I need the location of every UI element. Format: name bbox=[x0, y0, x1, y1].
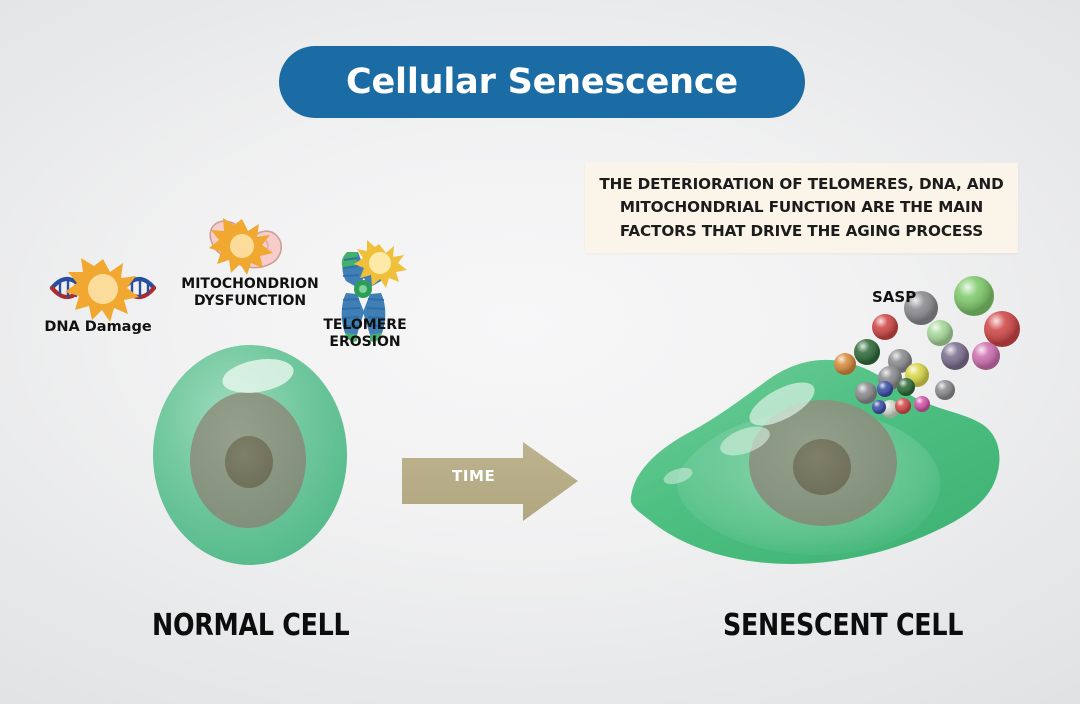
sasp-particle-highlight bbox=[878, 366, 902, 390]
sasp-particle-highlight bbox=[872, 314, 898, 340]
sasp-particle-highlight bbox=[888, 349, 912, 373]
sasp-particle-highlight bbox=[914, 396, 930, 412]
title-banner: Cellular Senescence bbox=[279, 46, 805, 118]
sasp-particle-highlight bbox=[877, 381, 893, 397]
sasp-particle bbox=[984, 311, 1020, 347]
sasp-particle bbox=[888, 349, 912, 373]
sasp-particle-highlight bbox=[895, 398, 911, 414]
sasp-particle bbox=[972, 342, 1000, 370]
callout-box: THE DETERIORATION OF TELOMERES, DNA, AND… bbox=[585, 163, 1018, 253]
factor-label-dna-damage: DNA Damage bbox=[18, 319, 178, 337]
sasp-particle bbox=[935, 380, 955, 400]
dna-helix-burst-icon bbox=[52, 258, 154, 322]
sasp-particle bbox=[872, 400, 886, 414]
normal-cell-illustration bbox=[153, 345, 347, 565]
sasp-particle bbox=[872, 314, 898, 340]
sasp-particle-highlight bbox=[854, 339, 880, 365]
sasp-particle-highlight bbox=[897, 378, 915, 396]
time-arrow-label: TIME bbox=[452, 467, 495, 485]
factor-label-mitochondrion-dysfunction: MITOCHONDRION DYSFUNCTION bbox=[162, 276, 338, 310]
sasp-particle-highlight bbox=[972, 342, 1000, 370]
sasp-particle-highlight bbox=[905, 363, 929, 387]
sasp-particle bbox=[881, 400, 899, 418]
sasp-particle-highlight bbox=[881, 400, 899, 418]
sasp-particle-group bbox=[834, 276, 1020, 418]
sasp-particle bbox=[914, 396, 930, 412]
sasp-particle-highlight bbox=[855, 382, 877, 404]
sasp-particle-highlight bbox=[984, 311, 1020, 347]
sasp-particle-highlight bbox=[935, 380, 955, 400]
factor-label-telomere-erosion: TELOMERE EROSION bbox=[306, 317, 424, 351]
sasp-particle-highlight bbox=[941, 342, 969, 370]
diagram-canvas: Cellular Senescence THE DETERIORATION OF… bbox=[0, 0, 1080, 704]
sasp-particle bbox=[954, 276, 994, 316]
sasp-label: SASP bbox=[872, 288, 916, 306]
sasp-particle bbox=[877, 381, 893, 397]
normal-cell-caption: NORMAL CELL bbox=[152, 608, 349, 643]
sasp-particle bbox=[905, 363, 929, 387]
sasp-particle bbox=[878, 366, 902, 390]
senescent-cell-caption: SENESCENT CELL bbox=[723, 608, 963, 643]
sasp-particle-highlight bbox=[834, 353, 856, 375]
sasp-particle-highlight bbox=[954, 276, 994, 316]
sasp-particle-highlight bbox=[872, 400, 886, 414]
sasp-particle bbox=[854, 339, 880, 365]
sasp-particle bbox=[895, 398, 911, 414]
sasp-particle bbox=[834, 353, 856, 375]
sasp-particle bbox=[941, 342, 969, 370]
sasp-particle-highlight bbox=[927, 320, 953, 346]
sasp-particle bbox=[927, 320, 953, 346]
mitochondrion-burst-icon bbox=[209, 218, 281, 275]
sasp-particle bbox=[897, 378, 915, 396]
page-title: Cellular Senescence bbox=[346, 62, 738, 102]
senescent-cell-illustration bbox=[631, 360, 1000, 564]
sasp-particle bbox=[855, 382, 877, 404]
callout-text: THE DETERIORATION OF TELOMERES, DNA, AND… bbox=[599, 173, 1003, 242]
